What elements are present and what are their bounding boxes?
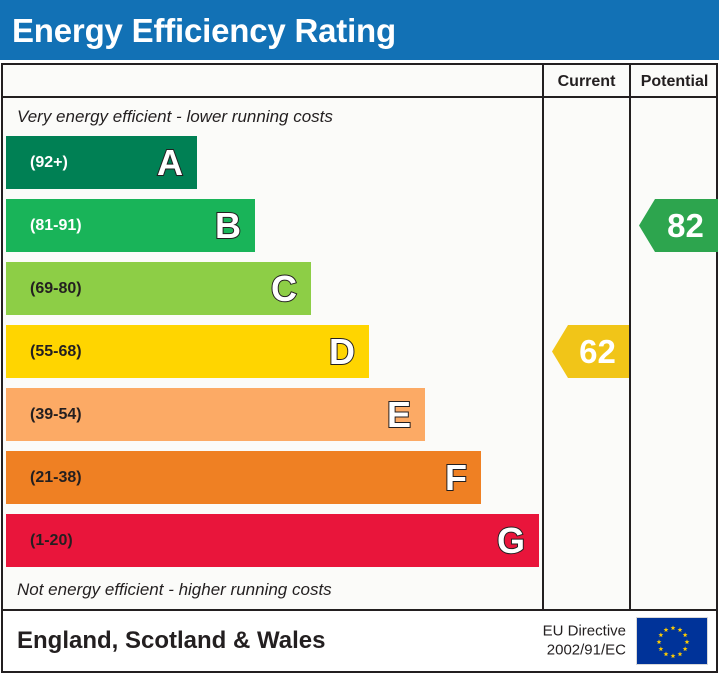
caption-inefficient: Not energy efficient - higher running co… xyxy=(3,571,542,609)
eu-stars-icon xyxy=(637,618,709,666)
column-header-current-label: Current xyxy=(558,73,616,91)
band-bar-a: (92+)A xyxy=(6,136,197,189)
eu-flag-icon xyxy=(636,617,708,665)
band-chart-zone: Very energy efficient - lower running co… xyxy=(3,98,542,609)
column-divider-current xyxy=(542,98,544,609)
current-rating-badge-value: 62 xyxy=(565,335,616,368)
band-letter-f: F xyxy=(445,460,467,496)
band-row-g: (1-20)G xyxy=(3,514,542,567)
potential-rating-badge: 82 xyxy=(639,199,718,252)
band-row-e: (39-54)E xyxy=(3,388,542,441)
band-letter-a: A xyxy=(157,145,183,181)
band-row-d: (55-68)D xyxy=(3,325,542,378)
band-row-a: (92+)A xyxy=(3,136,542,189)
band-row-f: (21-38)F xyxy=(3,451,542,504)
footer-directive: EU Directive 2002/91/EC xyxy=(543,622,626,660)
band-bar-g: (1-20)G xyxy=(6,514,539,567)
band-range-c: (69-80) xyxy=(6,280,82,298)
column-header-potential-label: Potential xyxy=(641,73,709,91)
column-header-current: Current xyxy=(542,65,629,98)
band-letter-c: C xyxy=(271,271,297,307)
band-bar-b: (81-91)B xyxy=(6,199,255,252)
band-bar-d: (55-68)D xyxy=(6,325,369,378)
footer-directive-line1: EU Directive xyxy=(543,622,626,641)
column-divider-potential xyxy=(629,98,631,609)
band-range-g: (1-20) xyxy=(6,532,73,550)
band-range-b: (81-91) xyxy=(6,217,82,235)
caption-efficient: Very energy efficient - lower running co… xyxy=(3,98,542,136)
footer-bar: England, Scotland & Wales EU Directive 2… xyxy=(1,611,718,673)
band-letter-b: B xyxy=(215,208,241,244)
footer-region-label: England, Scotland & Wales xyxy=(17,627,325,655)
band-row-b: (81-91)B xyxy=(3,199,542,252)
footer-directive-line2: 2002/91/EC xyxy=(543,641,626,660)
band-row-c: (69-80)C xyxy=(3,262,542,315)
page-title: Energy Efficiency Rating xyxy=(0,14,396,47)
column-header-potential: Potential xyxy=(629,65,718,98)
potential-rating-badge-value: 82 xyxy=(653,209,704,242)
current-rating-badge: 62 xyxy=(552,325,629,378)
band-range-d: (55-68) xyxy=(6,343,82,361)
band-bar-f: (21-38)F xyxy=(6,451,481,504)
band-bars: (92+)A(81-91)B(69-80)C(55-68)D(39-54)E(2… xyxy=(3,136,542,571)
band-range-a: (92+) xyxy=(6,154,68,172)
table-header-row: Current Potential xyxy=(3,65,716,98)
band-letter-e: E xyxy=(387,397,411,433)
band-range-e: (39-54) xyxy=(6,406,82,424)
chart-title-band: Energy Efficiency Rating xyxy=(0,0,719,60)
band-letter-d: D xyxy=(329,334,355,370)
rating-table: Current Potential Very energy efficient … xyxy=(1,63,718,611)
band-bar-c: (69-80)C xyxy=(6,262,311,315)
band-range-f: (21-38) xyxy=(6,469,82,487)
epc-chart: Energy Efficiency Rating Current Potenti… xyxy=(0,0,719,675)
band-bar-e: (39-54)E xyxy=(6,388,425,441)
band-letter-g: G xyxy=(497,523,525,559)
